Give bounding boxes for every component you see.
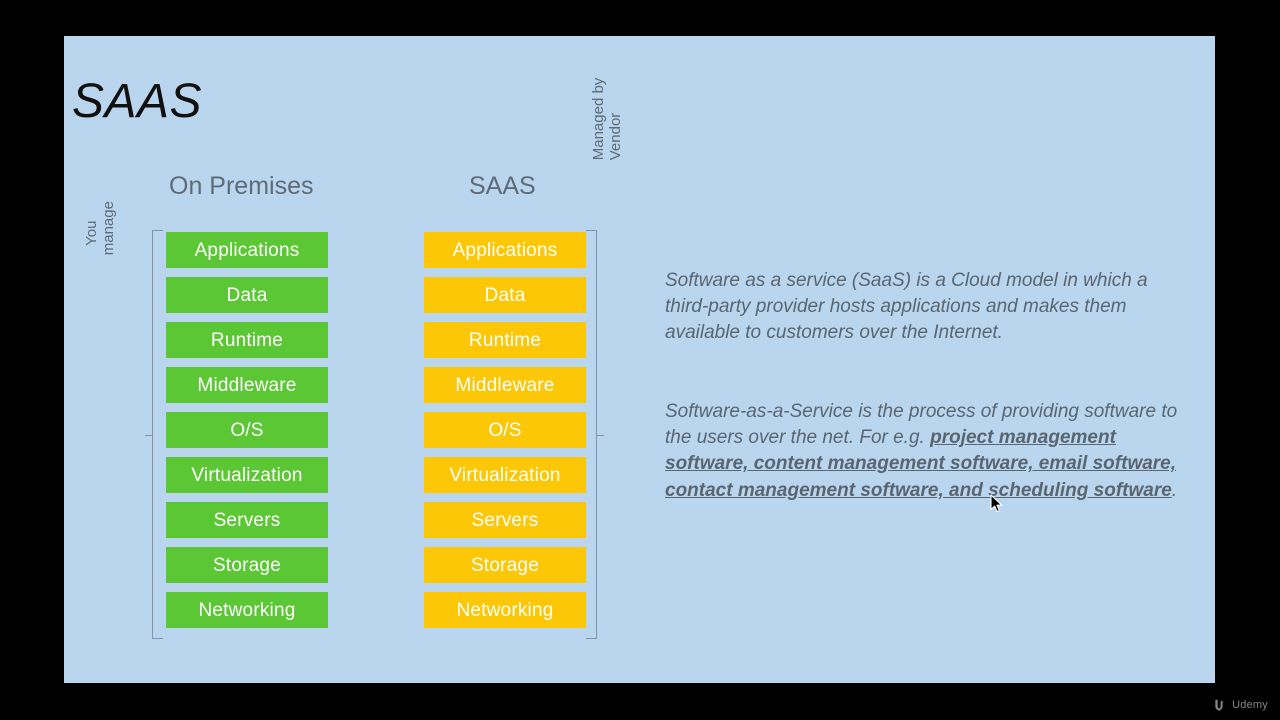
bracket-on-premises (152, 230, 163, 639)
layer-applications: Applications (166, 232, 328, 268)
description-paragraph-1: Software as a service (SaaS) is a Cloud … (665, 268, 1187, 347)
stack-saas: Applications Data Runtime Middleware O/S… (424, 232, 586, 628)
paragraph-2-tail: . (1172, 480, 1177, 501)
description-paragraph-2: Software-as-a-Service is the process of … (665, 399, 1187, 504)
layer-servers: Servers (166, 502, 328, 538)
layer-os: O/S (424, 412, 586, 448)
layer-storage: Storage (166, 547, 328, 583)
layer-applications: Applications (424, 232, 586, 268)
layer-middleware: Middleware (166, 367, 328, 403)
udemy-watermark: Udemy (1213, 698, 1268, 712)
layer-runtime: Runtime (424, 322, 586, 358)
page-title: SAAS (72, 74, 202, 129)
label-managed-by-vendor-line-1: Managed by (590, 116, 607, 160)
layer-virtualization: Virtualization (424, 457, 586, 493)
layer-data: Data (166, 277, 328, 313)
column-heading-saas: SAAS (469, 172, 536, 201)
layer-networking: Networking (424, 592, 586, 628)
label-managed-by-vendor-line-2: Vendor (607, 116, 624, 160)
label-you-manage-line-2: manage (100, 211, 117, 255)
bracket-tick (145, 435, 152, 436)
layer-data: Data (424, 277, 586, 313)
layer-storage: Storage (424, 547, 586, 583)
layer-os: O/S (166, 412, 328, 448)
stack-on-premises: Applications Data Runtime Middleware O/S… (166, 232, 328, 628)
udemy-wordmark: Udemy (1232, 699, 1268, 711)
column-heading-on-premises: On Premises (169, 172, 313, 201)
label-you-manage: You manage (83, 211, 118, 255)
presentation-slide: SAAS On Premises SAAS You manage Applica… (64, 36, 1215, 683)
video-player-screen: SAAS On Premises SAAS You manage Applica… (0, 0, 1280, 720)
bracket-saas (586, 230, 597, 639)
layer-middleware: Middleware (424, 367, 586, 403)
layer-servers: Servers (424, 502, 586, 538)
paragraph-1-text: Software as a service (SaaS) is a Cloud … (665, 270, 1148, 343)
layer-virtualization: Virtualization (166, 457, 328, 493)
udemy-logo-icon (1213, 698, 1227, 712)
bracket-spine (152, 231, 153, 638)
bracket-tick (597, 435, 604, 436)
label-managed-by-vendor: Managed by Vendor (590, 116, 625, 160)
layer-runtime: Runtime (166, 322, 328, 358)
layer-networking: Networking (166, 592, 328, 628)
label-you-manage-line-1: You (83, 211, 100, 255)
